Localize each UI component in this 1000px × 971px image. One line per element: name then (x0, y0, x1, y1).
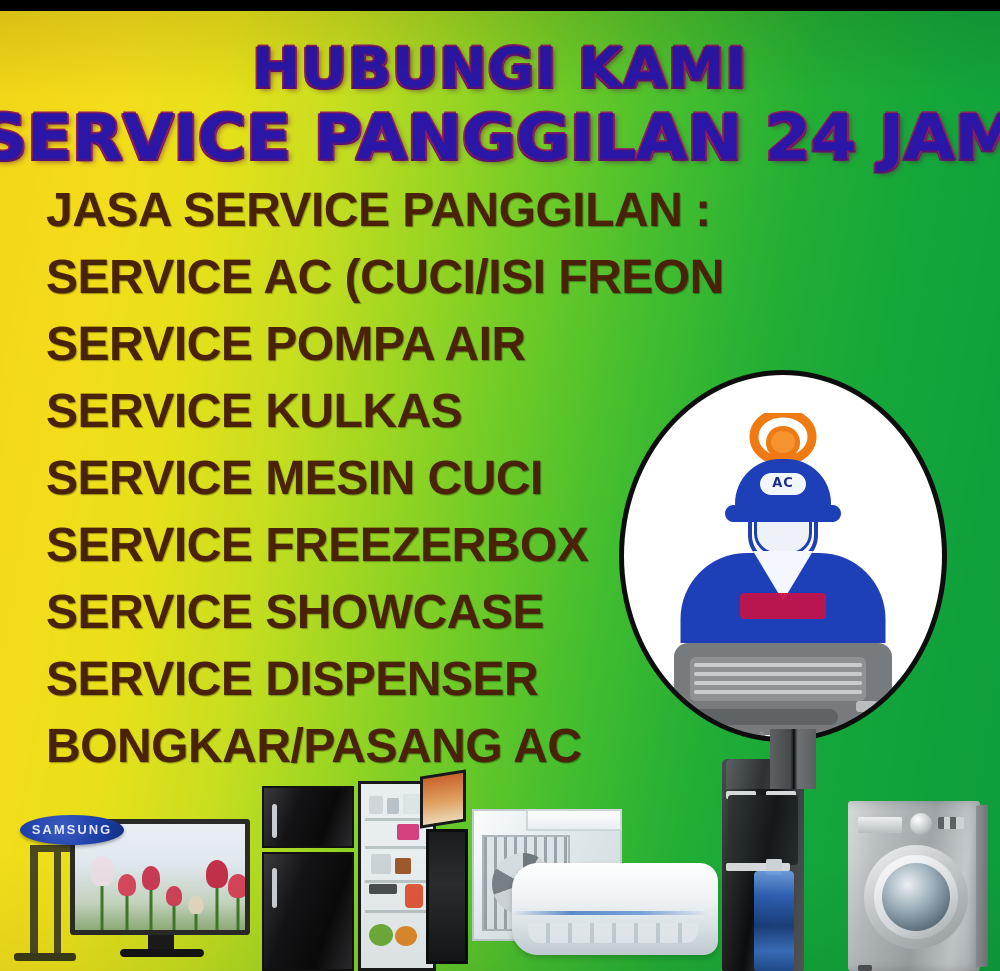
ac-outdoor-grille (482, 835, 570, 931)
washer-control-panel (858, 811, 970, 839)
ac-indoor-vent (528, 923, 698, 943)
ac-outdoor-unit (472, 809, 622, 941)
fridge-item (369, 884, 397, 894)
fridge-item (397, 824, 419, 840)
washing-machine-photo (848, 801, 990, 971)
tulip-flower (89, 856, 115, 930)
fridge-item (395, 926, 417, 946)
tulip-flower (165, 886, 183, 930)
fridge-interior (358, 781, 436, 971)
service-item: SERVICE POMPA AIR (46, 311, 686, 378)
service-item: BONGKAR/PASANG AC (46, 713, 686, 780)
fridge-item (369, 796, 383, 814)
ac-outdoor-fan (492, 853, 554, 915)
headline-primary: HUBUNGI KAMI (0, 36, 1000, 100)
fridge-main-door-open (426, 829, 468, 964)
tulip-flower (205, 858, 229, 930)
tulip-flower (141, 862, 161, 930)
fridge-door (262, 852, 354, 971)
ac-unit-face (690, 657, 866, 701)
tulip-flower (187, 896, 205, 930)
service-item: SERVICE MESIN CUCI (46, 445, 686, 512)
refrigerator-closed-photo (262, 786, 354, 971)
service-advertisement-poster: HUBUNGI KAMI SERVICE PANGGILAN 24 JAM JA… (0, 0, 1000, 971)
dispenser-panel (728, 795, 798, 865)
television-photo: SAMSUNG (8, 811, 258, 971)
cap-badge-label: AC (760, 473, 806, 495)
dispenser-tray (726, 863, 790, 871)
washer-foot (858, 965, 872, 971)
ac-indoor-unit (512, 863, 718, 955)
tv-stand-base (120, 949, 204, 957)
fridge-item (371, 854, 391, 874)
ac-outdoor-top (526, 809, 622, 831)
tv-screen (70, 819, 250, 935)
fridge-item (403, 794, 421, 814)
tv-stand-neck (148, 935, 174, 951)
logo-stand (770, 729, 816, 789)
washer-indicator-lights (938, 817, 964, 829)
ac-unit-outlet (688, 709, 838, 725)
fridge-item (369, 924, 393, 946)
wifi-arc-icon (740, 413, 826, 461)
tv-sign-arm (30, 845, 160, 852)
water-dispenser-photo (722, 759, 808, 971)
fridge-item (395, 858, 411, 874)
dispenser-tap (726, 791, 756, 799)
service-item: SERVICE KULKAS (46, 378, 686, 445)
ac-indoor-accent-stripe (512, 911, 708, 915)
tulip-flower (227, 874, 249, 930)
samsung-logo-sign: SAMSUNG (20, 815, 124, 845)
water-gallon-bottle (754, 871, 794, 971)
service-list-heading: JASA SERVICE PANGGILAN : (46, 177, 686, 244)
freezer-door (262, 786, 354, 848)
service-item: SERVICE SHOWCASE (46, 579, 686, 646)
dispenser-body (722, 759, 804, 971)
headline-secondary: SERVICE PANGGILAN 24 JAM (0, 101, 1000, 174)
tv-sign-pole (30, 845, 38, 955)
dispenser-tap (766, 791, 796, 799)
washer-body (848, 801, 980, 971)
washer-door-glass (882, 863, 950, 931)
service-list: JASA SERVICE PANGGILAN : SERVICE AC (CUC… (46, 177, 686, 780)
washer-detergent-drawer (858, 817, 902, 833)
top-letterbox-bar (0, 0, 1000, 11)
technician-logo: AC (619, 370, 947, 742)
dispenser-bottle-neck (766, 859, 782, 875)
service-item: SERVICE FREEZERBOX (46, 512, 686, 579)
washer-door-outer-ring (864, 845, 968, 949)
tv-sign-pole-2 (54, 845, 61, 955)
air-conditioner-photo (468, 803, 718, 971)
logo-circle-background: AC (619, 370, 947, 742)
ac-unit-display (856, 701, 878, 712)
refrigerator-open-photo (358, 773, 468, 971)
fridge-item (405, 884, 423, 908)
fridge-item (387, 798, 399, 814)
washer-door-inner-ring (874, 855, 958, 939)
service-item: SERVICE DISPENSER (46, 646, 686, 713)
ac-indoor-unit-icon (674, 643, 892, 735)
technician-tie (740, 593, 826, 619)
poster-canvas: HUBUNGI KAMI SERVICE PANGGILAN 24 JAM JA… (0, 11, 1000, 971)
tulip-flower (117, 870, 137, 930)
washer-side-panel (976, 804, 988, 967)
service-item: SERVICE AC (CUCI/ISI FREON (46, 244, 686, 311)
tv-sign-base (14, 953, 76, 961)
ac-unit-indicator (877, 717, 882, 722)
washer-program-knob (910, 813, 932, 835)
technician-cap-brim (725, 505, 841, 522)
